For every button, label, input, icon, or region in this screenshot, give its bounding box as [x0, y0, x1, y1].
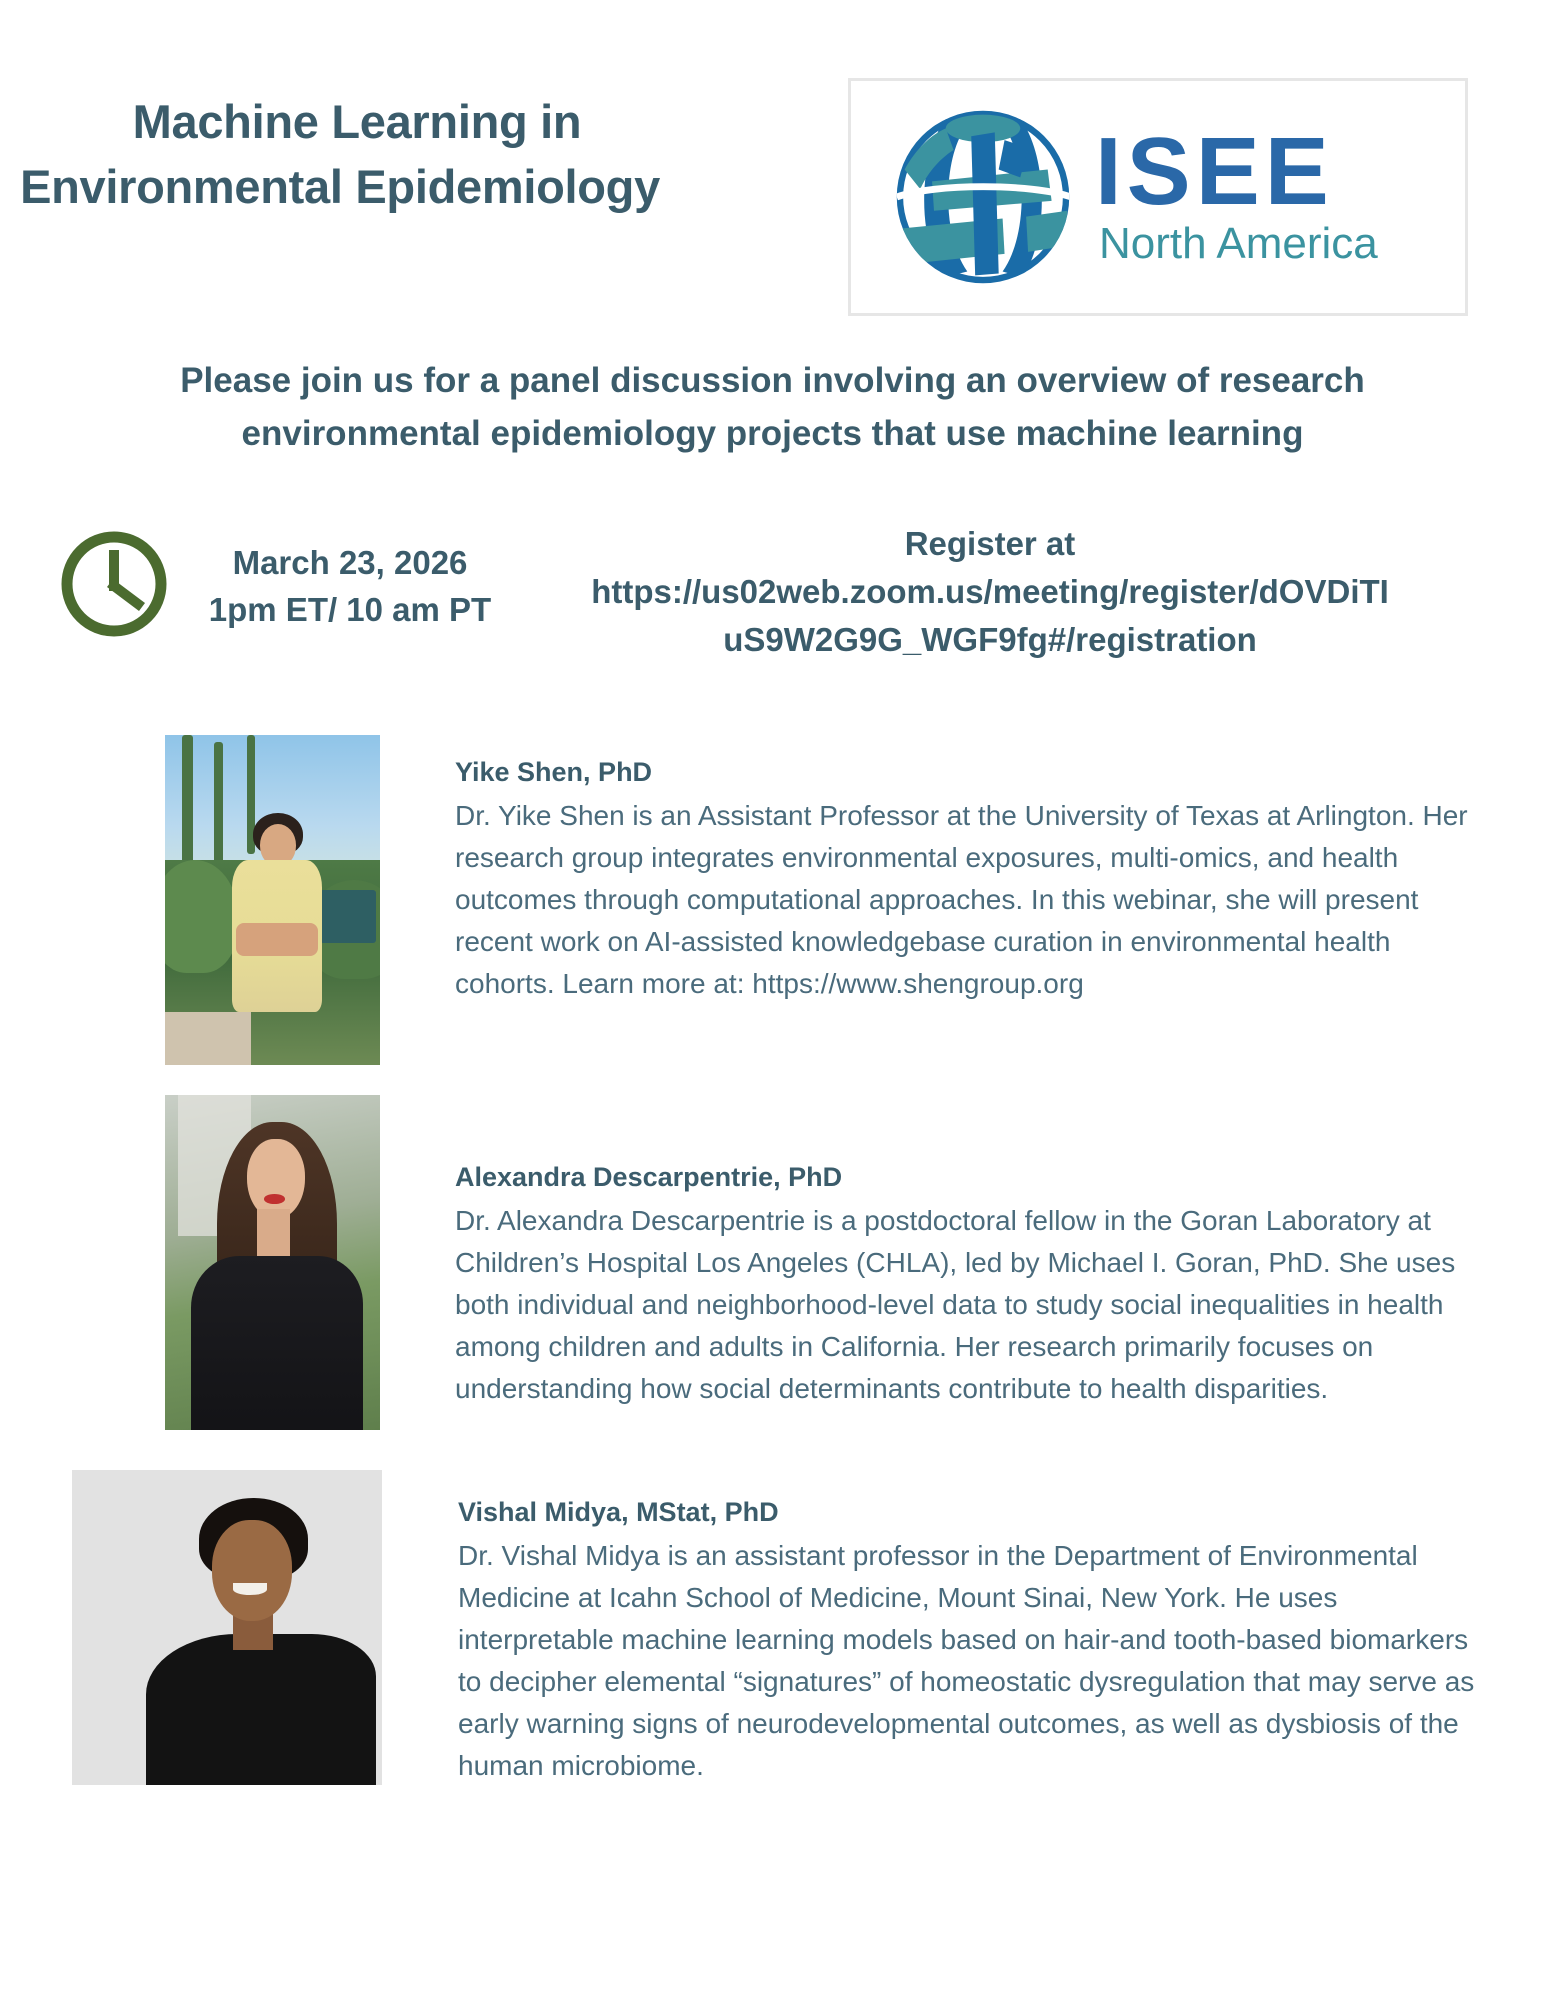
- event-info-row: March 23, 2026 1pm ET/ 10 am PT Register…: [0, 520, 1545, 680]
- logo-brand-text: ISEE: [1095, 126, 1378, 218]
- event-description-line-1: Please join us for a panel discussion in…: [60, 355, 1485, 408]
- page-title-line-2: Environmental Epidemiology: [0, 155, 680, 220]
- register-url-line-1[interactable]: https://us02web.zoom.us/meeting/register…: [520, 568, 1460, 616]
- registration-block: Register at https://us02web.zoom.us/meet…: [520, 520, 1460, 664]
- register-url-line-2[interactable]: uS9W2G9G_WGF9fg#/registration: [520, 616, 1460, 664]
- speaker-name: Alexandra Descarpentrie, PhD: [455, 1160, 1485, 1195]
- speaker-name: Yike Shen, PhD: [455, 755, 1485, 790]
- logo-wordmark: ISEE North America: [1095, 126, 1378, 268]
- speaker-bio-text: Dr. Yike Shen is an Assistant Professor …: [455, 795, 1485, 1005]
- speaker-photo-yike-shen: [165, 735, 380, 1065]
- logo-region-text: North America: [1095, 220, 1378, 268]
- speaker-bio: Vishal Midya, MStat, PhD Dr. Vishal Midy…: [440, 1470, 1545, 1787]
- speaker-list: Yike Shen, PhD Dr. Yike Shen is an Assis…: [0, 735, 1545, 1787]
- register-label: Register at: [520, 520, 1460, 568]
- speaker-photo-vishal-midya: [72, 1470, 382, 1785]
- speaker-item: Yike Shen, PhD Dr. Yike Shen is an Assis…: [0, 735, 1545, 1065]
- page-title-line-1: Machine Learning in: [0, 90, 680, 155]
- event-date: March 23, 2026: [200, 540, 500, 587]
- event-description: Please join us for a panel discussion in…: [60, 355, 1485, 460]
- globe-icon: [885, 99, 1081, 295]
- speaker-item: Alexandra Descarpentrie, PhD Dr. Alexand…: [0, 1095, 1545, 1430]
- event-time: 1pm ET/ 10 am PT: [200, 587, 500, 634]
- speaker-photo-alexandra-descarpentrie: [165, 1095, 380, 1430]
- speaker-item: Vishal Midya, MStat, PhD Dr. Vishal Midy…: [0, 1470, 1545, 1787]
- speaker-bio: Yike Shen, PhD Dr. Yike Shen is an Assis…: [455, 735, 1545, 1005]
- speaker-name: Vishal Midya, MStat, PhD: [458, 1495, 1485, 1530]
- speaker-bio: Alexandra Descarpentrie, PhD Dr. Alexand…: [455, 1095, 1545, 1410]
- speaker-bio-text: Dr. Alexandra Descarpentrie is a postdoc…: [455, 1200, 1485, 1410]
- event-datetime: March 23, 2026 1pm ET/ 10 am PT: [200, 540, 500, 634]
- page-title: Machine Learning in Environmental Epidem…: [0, 90, 680, 220]
- isee-north-america-logo: ISEE North America: [848, 78, 1468, 316]
- event-description-line-2: environmental epidemiology projects that…: [60, 408, 1485, 461]
- speaker-bio-text: Dr. Vishal Midya is an assistant profess…: [458, 1535, 1485, 1787]
- clock-icon: [58, 528, 170, 640]
- flyer-header: Machine Learning in Environmental Epidem…: [0, 0, 1545, 272]
- webinar-flyer: Machine Learning in Environmental Epidem…: [0, 0, 1545, 2000]
